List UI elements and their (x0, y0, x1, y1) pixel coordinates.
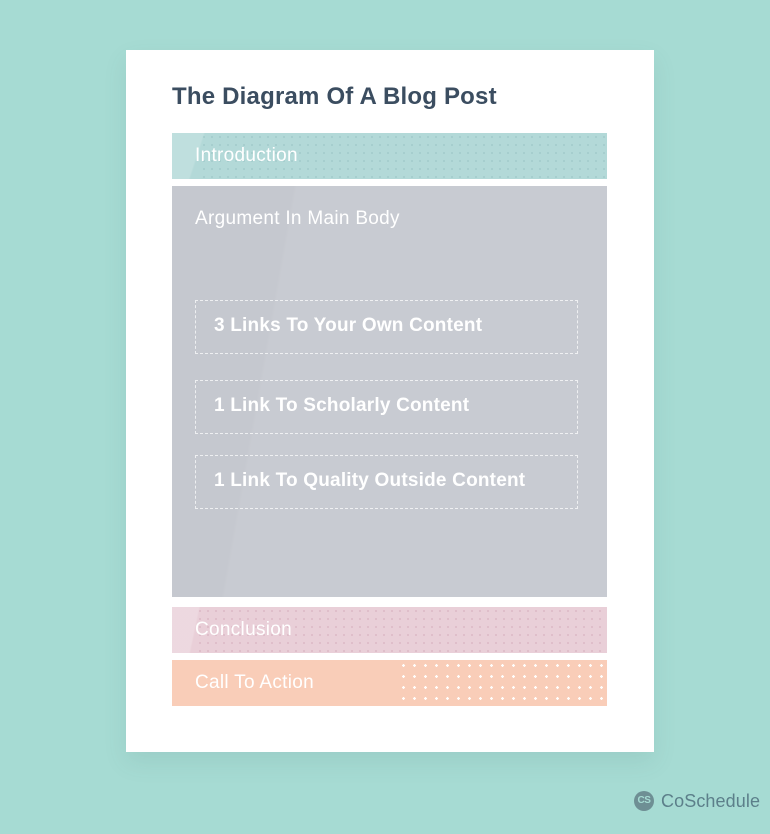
sub-item-label: 1 Link To Quality Outside Content (214, 470, 525, 492)
sub-item-link-scholarly-content[interactable]: 1 Link To Scholarly Content (195, 380, 578, 434)
section-label-conclusion: Conclusion (195, 619, 292, 641)
coschedule-wordmark: CoSchedule (661, 791, 760, 812)
sub-item-links-own-content[interactable]: 3 Links To Your Own Content (195, 300, 578, 354)
logo-badge-text: CS (638, 796, 651, 806)
diagram-section-call-to-action[interactable]: Call To Action (172, 660, 607, 706)
coschedule-badge-icon: CS (634, 791, 654, 811)
sub-item-label: 1 Link To Scholarly Content (214, 395, 469, 417)
diagram-section-introduction[interactable]: Introduction (172, 133, 607, 179)
section-label-introduction: Introduction (195, 145, 298, 167)
dot-texture-icon (398, 660, 607, 706)
diagram-section-conclusion[interactable]: Conclusion (172, 607, 607, 653)
section-label-call-to-action: Call To Action (195, 672, 314, 694)
coschedule-logo[interactable]: CS CoSchedule (634, 789, 760, 813)
section-label-main-body: Argument In Main Body (195, 208, 400, 230)
diagram-card: The Diagram Of A Blog Post Introduction … (126, 50, 654, 752)
page-title: The Diagram Of A Blog Post (172, 83, 497, 111)
sub-item-link-quality-outside-content[interactable]: 1 Link To Quality Outside Content (195, 455, 578, 509)
sub-item-label: 3 Links To Your Own Content (214, 315, 482, 337)
diagram-section-main-body[interactable]: Argument In Main Body 3 Links To Your Ow… (172, 186, 607, 597)
